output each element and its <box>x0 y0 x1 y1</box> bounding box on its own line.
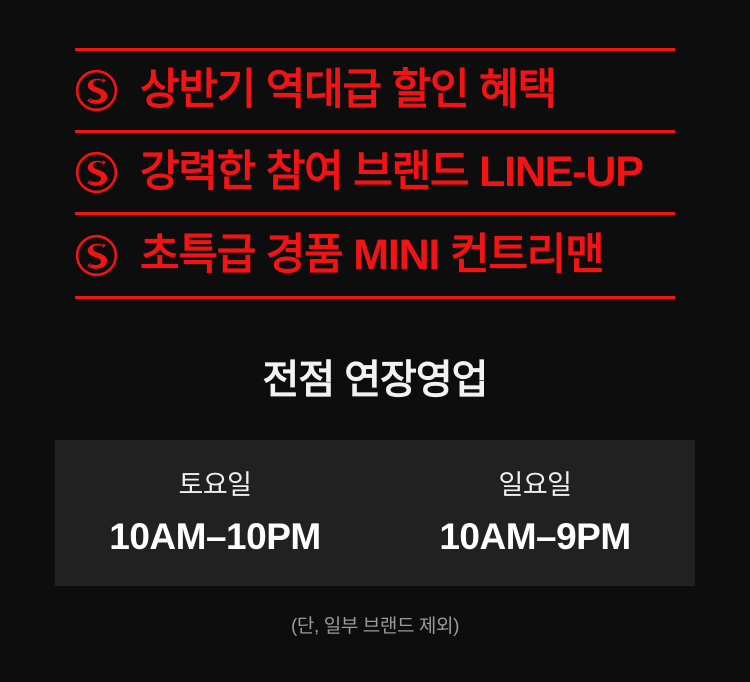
feature-label-1: 상반기 역대급 할인 혜택 <box>140 69 556 112</box>
store-hours-panel: 토요일 10AM–10PM 일요일 10AM–9PM <box>55 440 695 586</box>
hours-time-value-sunday: 10AM–9PM <box>375 518 695 557</box>
feature-label-2: 강력한 참여 브랜드 LINE-UP <box>140 151 643 194</box>
feature-row-1: 상반기 역대급 할인 혜택 <box>75 51 675 130</box>
s-coin-badge-icon <box>75 234 118 277</box>
footnote-text: (단, 일부 브랜드 제외) <box>0 615 750 640</box>
s-coin-badge-icon <box>75 151 118 194</box>
hours-time-value-saturday: 10AM–10PM <box>55 518 375 557</box>
hours-day-label-saturday: 토요일 <box>55 469 375 501</box>
section-heading: 전점 연장영업 <box>0 357 750 403</box>
feature-list: 상반기 역대급 할인 혜택 강력한 참여 브랜드 LINE-UP 초특급 경품 … <box>75 48 675 299</box>
hours-column-saturday: 토요일 10AM–10PM <box>55 469 375 557</box>
feature-row-3: 초특급 경품 MINI 컨트리맨 <box>75 215 675 296</box>
promo-banner-page: 상반기 역대급 할인 혜택 강력한 참여 브랜드 LINE-UP 초특급 경품 … <box>0 0 750 682</box>
s-coin-badge-icon <box>75 69 118 112</box>
hours-day-label-sunday: 일요일 <box>375 469 695 501</box>
divider-bottom <box>75 296 675 299</box>
hours-column-sunday: 일요일 10AM–9PM <box>375 469 695 557</box>
feature-label-3: 초특급 경품 MINI 컨트리맨 <box>140 234 603 277</box>
feature-row-2: 강력한 참여 브랜드 LINE-UP <box>75 133 675 212</box>
